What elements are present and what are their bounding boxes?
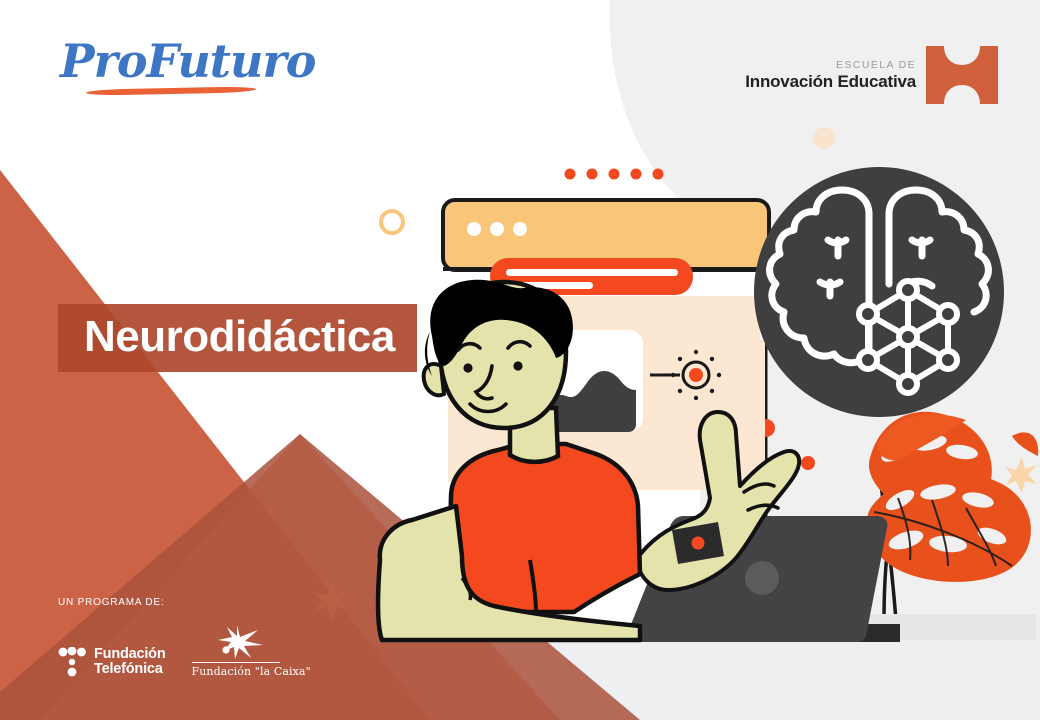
telefonica-line2: Telefónica	[94, 661, 163, 677]
profuturo-logo[interactable]: ProFuturo	[60, 38, 280, 100]
profuturo-wordmark: ProFuturo	[60, 38, 280, 84]
fundacion-telefonica-logo[interactable]: Fundación Telefónica	[58, 647, 166, 678]
browser-traffic-dots	[467, 222, 527, 236]
decorative-peach-dot	[813, 127, 835, 149]
escuela-x-mark-icon	[926, 46, 998, 104]
page-title: Neurodidáctica	[84, 315, 395, 359]
escuela-logo-line1: ESCUELA DE	[745, 60, 916, 71]
telefonica-dots-icon	[58, 647, 86, 677]
lacaixa-wordmark: Fundación "la Caixa"	[192, 665, 280, 678]
escuela-innovacion-logo[interactable]: ESCUELA DE Innovación Educativa	[745, 46, 998, 104]
title-banner: Neurodidáctica	[58, 304, 417, 372]
laptop-logo	[745, 561, 779, 595]
person-eye-right	[513, 361, 522, 370]
escuela-logo-line2: Innovación Educativa	[745, 73, 916, 90]
telefonica-wordmark: Fundación Telefónica	[94, 647, 166, 678]
person-ear	[424, 364, 444, 395]
telefonica-line1: Fundación	[94, 646, 166, 662]
escuela-logo-text: ESCUELA DE Innovación Educativa	[745, 60, 916, 91]
slide-canvas: ProFuturo ESCUELA DE Innovación Educativ…	[0, 0, 1040, 720]
person-eye-left	[463, 363, 472, 372]
brain-network-icon	[754, 167, 1004, 417]
person-shirt	[450, 444, 640, 612]
brain-icon-circle	[754, 167, 1004, 417]
fundacion-lacaixa-logo[interactable]: Fundación "la Caixa"	[192, 624, 280, 678]
footer-sponsors: UN PROGRAMA DE: Fundación Telefónica	[58, 597, 318, 678]
program-label: UN PROGRAMA DE:	[58, 597, 318, 608]
lacaixa-star-icon	[206, 624, 266, 660]
decorative-dot-mid	[801, 456, 815, 470]
sponsor-logos-row: Fundación Telefónica Fundación "la Caixa…	[58, 624, 318, 678]
lacaixa-rule	[192, 662, 280, 663]
